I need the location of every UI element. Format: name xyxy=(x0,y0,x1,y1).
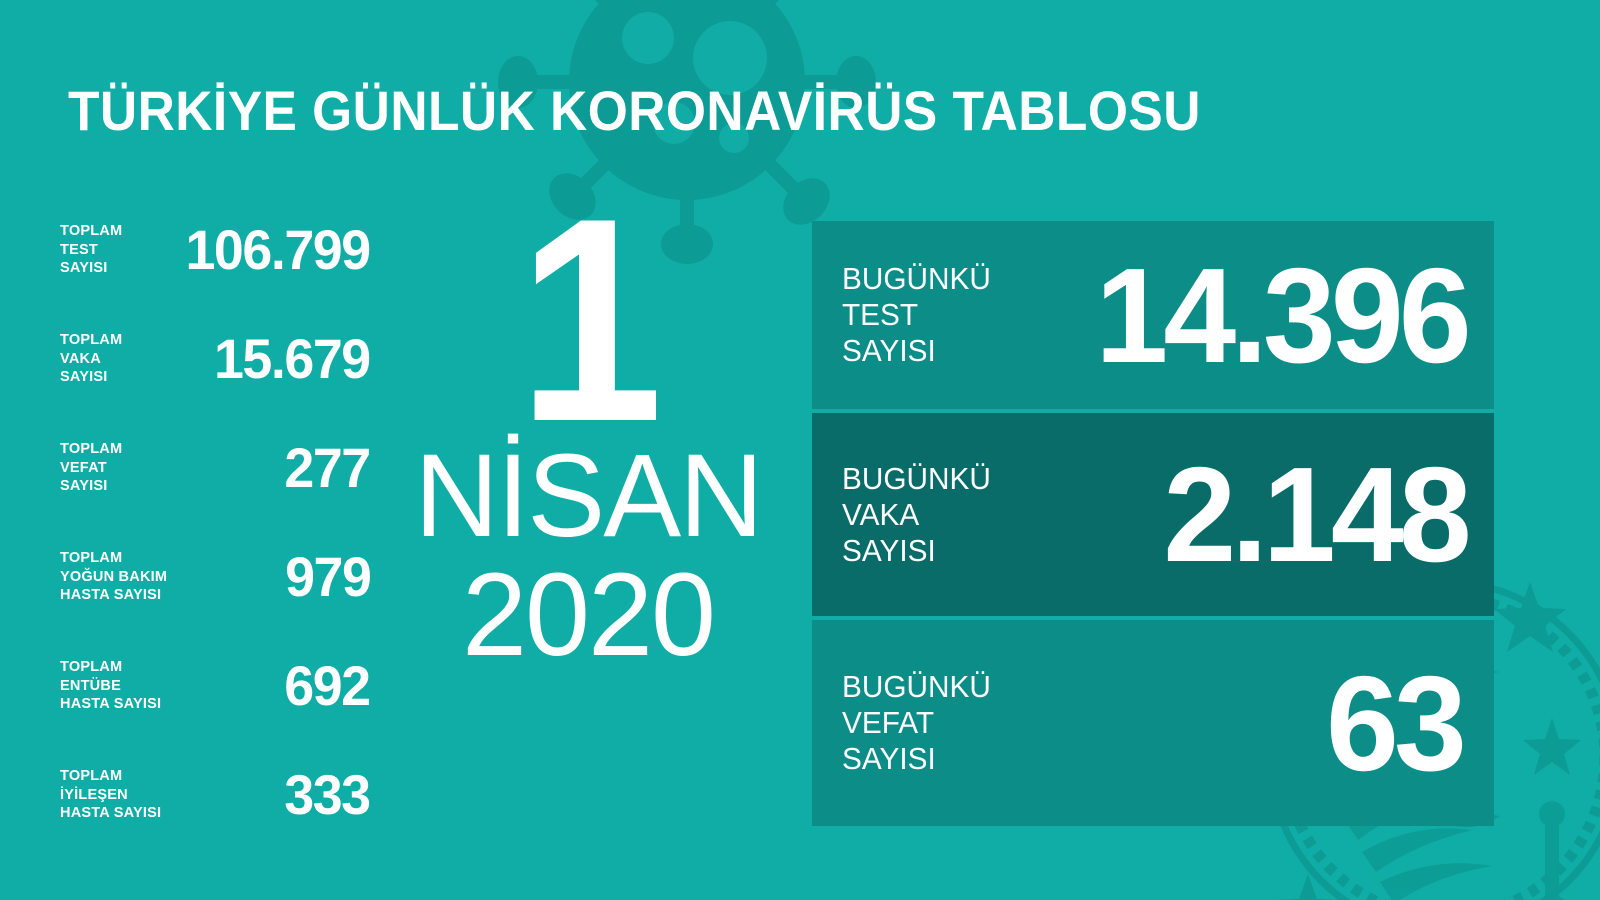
page-title: TÜRKİYE GÜNLÜK KORONAVİRÜS TABLOSU xyxy=(68,78,1201,143)
card-value: 63 xyxy=(1012,656,1494,791)
card-label: BUGÜNKÜVAKASAYISI xyxy=(842,461,991,569)
date-block: 1 NİSAN 2020 xyxy=(398,196,778,675)
stat-label: TOPLAMİYİLEŞENHASTA SAYISI xyxy=(60,767,161,823)
stat-value: 692 xyxy=(173,658,370,714)
date-day: 1 xyxy=(417,196,759,445)
stat-label: TOPLAMVEFATSAYISI xyxy=(60,440,122,496)
stat-value: 333 xyxy=(173,767,370,823)
stat-row-toplam-iyilesen: TOPLAMİYİLEŞENHASTA SAYISI 333 xyxy=(60,751,370,839)
stat-row-toplam-entube: TOPLAMENTÜBEHASTA SAYISI 692 xyxy=(60,642,370,730)
stat-row-toplam-yogun-bakim: TOPLAMYOĞUN BAKIMHASTA SAYISI 979 xyxy=(60,533,370,621)
stat-label: TOPLAMENTÜBEHASTA SAYISI xyxy=(60,658,161,714)
card-bugunku-vaka: BUGÜNKÜVAKASAYISI 2.148 xyxy=(812,413,1494,616)
card-value: 2.148 xyxy=(1012,447,1494,582)
stat-value: 277 xyxy=(134,440,370,496)
stat-value: 15.679 xyxy=(134,331,370,387)
stat-label: TOPLAMVAKASAYISI xyxy=(60,331,122,387)
stat-row-toplam-vefat: TOPLAMVEFATSAYISI 277 xyxy=(60,424,370,512)
card-label: BUGÜNKÜVEFATSAYISI xyxy=(842,669,991,777)
total-stats-list: TOPLAMTESTSAYISI 106.799 TOPLAMVAKASAYIS… xyxy=(60,206,370,839)
card-bugunku-vefat: BUGÜNKÜVEFATSAYISI 63 xyxy=(812,620,1494,826)
stat-label: TOPLAMYOĞUN BAKIMHASTA SAYISI xyxy=(60,549,167,605)
today-stats-cards: BUGÜNKÜTESTSAYISI 14.396 BUGÜNKÜVAKASAYI… xyxy=(812,221,1494,826)
stat-label: TOPLAMTESTSAYISI xyxy=(60,222,122,278)
stat-value: 106.799 xyxy=(134,222,370,278)
date-year: 2020 xyxy=(400,555,776,675)
card-value: 14.396 xyxy=(1012,248,1494,383)
card-bugunku-test: BUGÜNKÜTESTSAYISI 14.396 xyxy=(812,221,1494,409)
card-label: BUGÜNKÜTESTSAYISI xyxy=(842,261,991,369)
stat-row-toplam-test: TOPLAMTESTSAYISI 106.799 xyxy=(60,206,370,294)
stat-value: 979 xyxy=(179,549,370,605)
date-month: NİSAN xyxy=(400,439,776,555)
stat-row-toplam-vaka: TOPLAMVAKASAYISI 15.679 xyxy=(60,315,370,403)
